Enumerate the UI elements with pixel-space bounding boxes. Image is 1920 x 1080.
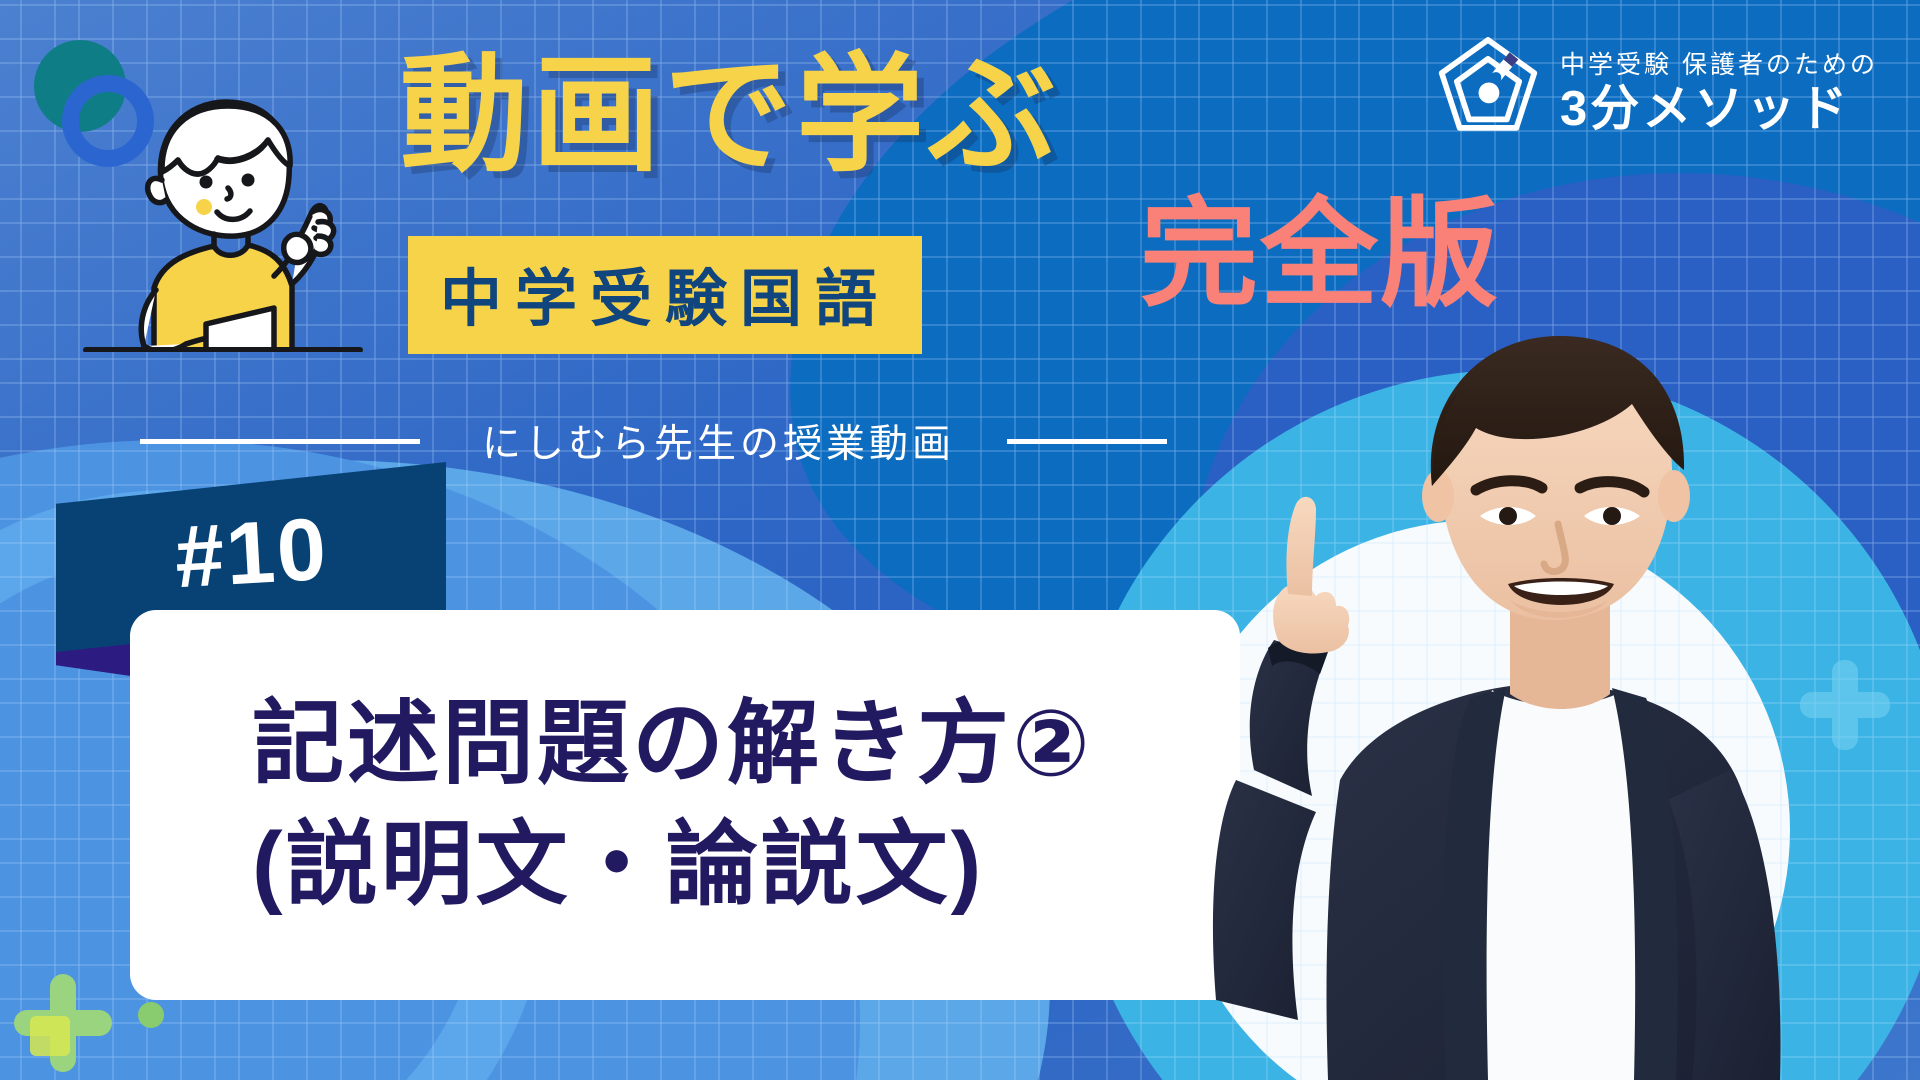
green-plus-core-decoration [30, 1016, 70, 1056]
green-plus-decoration [14, 974, 112, 1072]
student-at-laptop-ok-sign-icon [78, 62, 368, 352]
teacher-line-row: にしむら先生の授業動画 [140, 413, 1167, 469]
rule-left [140, 439, 420, 444]
brand-logo-text: 中学受験 保護者のための 3分メソッド [1560, 50, 1878, 138]
brand-logo-block: 中学受験 保護者のための 3分メソッド [1436, 34, 1878, 153]
episode-number: #10 [172, 498, 330, 608]
presenter-pointing-up-photo [1040, 300, 1840, 1080]
edition-label: 完全版 [1140, 196, 1500, 314]
green-dot-decoration [138, 1002, 164, 1028]
thumbnail-canvas: 動画で学ぶ 中学受験国語 完全版 にしむら先生の授業動画 [0, 0, 1920, 1080]
brand-kicker: 中学受験 保護者のための [1560, 50, 1878, 81]
teacher-name: にしむら先生の授業動画 [482, 413, 955, 469]
page-title: 動画で学ぶ [400, 52, 1060, 180]
pen-nib-pentagon-icon [1436, 34, 1540, 153]
brand-name: 3分メソッド [1560, 81, 1878, 137]
subject-badge: 中学受験国語 [408, 236, 922, 354]
